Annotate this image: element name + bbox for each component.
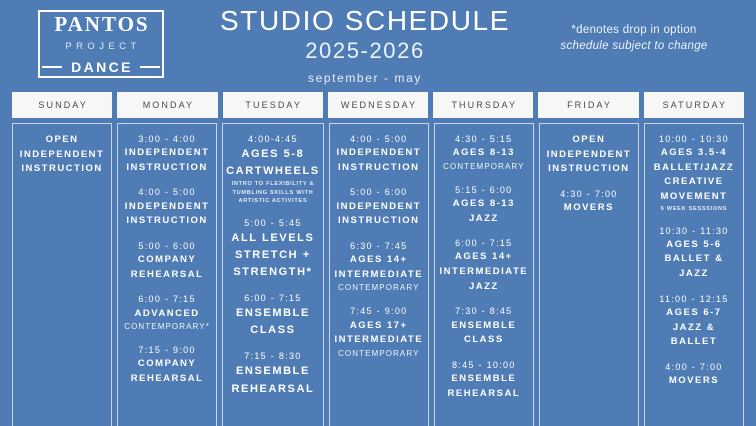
class-time: 7:15 - 8:30 <box>226 350 320 363</box>
day-header-label: SATURDAY <box>661 100 727 110</box>
class-name: INSTRUCTION <box>333 214 425 229</box>
class-name: BALLET <box>648 335 740 350</box>
title-block: STUDIO SCHEDULE 2025-2026 september - ma… <box>200 6 530 85</box>
class-name: AGES 17+ <box>333 319 425 334</box>
class-time: 7:15 - 9:00 <box>121 344 213 357</box>
logo-dance-row: DANCE <box>40 60 162 74</box>
class-name: INSTRUCTION <box>121 161 213 176</box>
class-name: JAZZ <box>438 212 530 227</box>
day-header-thursday[interactable]: THURSDAY <box>433 92 533 118</box>
class-name: CREATIVE <box>648 175 740 190</box>
class-time: 10:00 - 10:30 <box>648 133 740 146</box>
day-header-friday[interactable]: FRIDAY <box>538 92 638 118</box>
day-body-row: OPENINDEPENDENTINSTRUCTION3:00 - 4:00IND… <box>12 123 744 426</box>
logo-rule-right-icon <box>140 66 160 68</box>
day-header-label: WEDNESDAY <box>339 100 417 110</box>
schedule-poster: PANTOS PROJECT DANCE STUDIO SCHEDULE 202… <box>0 0 756 426</box>
class-name: COMPANY <box>121 253 213 268</box>
class-name: REHEARSAL <box>226 381 320 398</box>
class-time: 11:00 - 12:15 <box>648 293 740 306</box>
class-time: 10:30 - 11:30 <box>648 225 740 238</box>
class-entry[interactable]: 8:45 - 10:00ENSEMBLEREHEARSAL <box>438 359 530 401</box>
class-time: 4:00 - 5:00 <box>121 186 213 199</box>
day-header-row: SUNDAYMONDAYTUESDAYWEDNESDAYTHURSDAYFRID… <box>12 92 744 118</box>
class-name: INDEPENDENT <box>121 146 213 161</box>
class-name: MOVERS <box>648 374 740 389</box>
class-name: INSTRUCTION <box>16 162 108 177</box>
class-entry[interactable]: 10:30 - 11:30AGES 5-6BALLET &JAZZ <box>648 225 740 282</box>
class-name: JAZZ <box>648 267 740 282</box>
class-time: 4:00-4:45 <box>226 133 320 146</box>
class-name: ENSEMBLE <box>438 372 530 387</box>
class-name: INTERMEDIATE <box>333 333 425 348</box>
class-entry[interactable]: 4:00 - 5:00INDEPENDENTINSTRUCTION <box>333 133 425 175</box>
class-time: 4:00 - 7:00 <box>648 361 740 374</box>
day-header-tuesday[interactable]: TUESDAY <box>223 92 323 118</box>
class-name: ALL LEVELS <box>226 230 320 247</box>
day-column-saturday: 10:00 - 10:30AGES 3.5-4BALLET/JAZZCREATI… <box>644 123 744 426</box>
class-entry[interactable]: 7:15 - 8:30ENSEMBLEREHEARSAL <box>226 350 320 397</box>
class-name: INDEPENDENT <box>543 148 635 163</box>
class-name: ENSEMBLE <box>438 319 530 334</box>
day-header-label: THURSDAY <box>449 100 517 110</box>
class-note: INTRO TO FLEXIBILITY & <box>226 180 320 189</box>
class-time: 6:00 - 7:15 <box>121 293 213 306</box>
logo-line-dance: DANCE <box>62 60 140 74</box>
class-time: 6:00 - 7:15 <box>438 237 530 250</box>
class-time: 4:30 - 7:00 <box>543 188 635 201</box>
schedule-grid: SUNDAYMONDAYTUESDAYWEDNESDAYTHURSDAYFRID… <box>12 92 744 426</box>
class-name: INDEPENDENT <box>333 200 425 215</box>
day-header-label: FRIDAY <box>565 100 612 110</box>
class-entry[interactable]: 6:00 - 7:15AGES 14+INTERMEDIATEJAZZ <box>438 237 530 294</box>
class-name: AGES 6-7 <box>648 306 740 321</box>
disclaimer-note: *denotes drop in option schedule subject… <box>526 22 742 54</box>
class-name: BALLET/JAZZ <box>648 161 740 176</box>
class-entry[interactable]: 4:00-4:45AGES 5-8CARTWHEELSINTRO TO FLEX… <box>226 133 320 206</box>
class-name: STRETCH + <box>226 247 320 264</box>
class-name: INDEPENDENT <box>16 148 108 163</box>
day-column-wednesday: 4:00 - 5:00INDEPENDENTINSTRUCTION5:00 - … <box>329 123 429 426</box>
class-name: ADVANCED <box>121 307 213 322</box>
day-header-sunday[interactable]: SUNDAY <box>12 92 112 118</box>
class-time: 6:30 - 7:45 <box>333 240 425 253</box>
class-entry[interactable]: 6:00 - 7:15ENSEMBLECLASS <box>226 292 320 339</box>
class-entry[interactable]: 7:30 - 8:45ENSEMBLECLASS <box>438 305 530 347</box>
class-entry[interactable]: 7:45 - 9:00AGES 17+INTERMEDIATECONTEMPOR… <box>333 305 425 359</box>
class-entry[interactable]: 3:00 - 4:00INDEPENDENTINSTRUCTION <box>121 133 213 175</box>
class-note: TUMBLING SKILLS WITH <box>226 189 320 198</box>
class-time: 5:00 - 5:45 <box>226 217 320 230</box>
class-name: AGES 14+ <box>438 250 530 265</box>
day-header-monday[interactable]: MONDAY <box>117 92 217 118</box>
class-time: 7:45 - 9:00 <box>333 305 425 318</box>
class-name: AGES 14+ <box>333 253 425 268</box>
studio-logo: PANTOS PROJECT DANCE <box>38 10 164 78</box>
class-name: INTERMEDIATE <box>438 265 530 280</box>
class-time: 8:45 - 10:00 <box>438 359 530 372</box>
class-name: CONTEMPORARY <box>438 161 530 173</box>
class-name: INSTRUCTION <box>333 161 425 176</box>
class-entry[interactable]: OPENINDEPENDENTINSTRUCTION <box>16 133 108 177</box>
class-time: 5:15 - 6:00 <box>438 184 530 197</box>
class-note: ARTISTIC ACTIVITES <box>226 197 320 206</box>
class-name: CONTEMPORARY* <box>121 321 213 333</box>
class-time: 3:00 - 4:00 <box>121 133 213 146</box>
class-entry[interactable]: 4:30 - 5:15AGES 8-13CONTEMPORARY <box>438 133 530 173</box>
class-name: MOVEMENT <box>648 190 740 205</box>
note-drop-in: *denotes drop in option <box>526 22 742 38</box>
class-name: BALLET & <box>648 252 740 267</box>
class-name: INDEPENDENT <box>333 146 425 161</box>
class-name: MOVERS <box>543 201 635 216</box>
class-entry[interactable]: 5:00 - 6:00INDEPENDENTINSTRUCTION <box>333 186 425 228</box>
day-column-thursday: 4:30 - 5:15AGES 8-13CONTEMPORARY5:15 - 6… <box>434 123 534 426</box>
class-name: ENSEMBLE <box>226 363 320 380</box>
class-name: INSTRUCTION <box>543 162 635 177</box>
class-name: AGES 8-13 <box>438 146 530 161</box>
day-column-tuesday: 4:00-4:45AGES 5-8CARTWHEELSINTRO TO FLEX… <box>222 123 324 426</box>
class-entry[interactable]: OPENINDEPENDENTINSTRUCTION <box>543 133 635 177</box>
class-name: ENSEMBLE <box>226 305 320 322</box>
day-header-label: MONDAY <box>141 100 194 110</box>
page-title: STUDIO SCHEDULE <box>200 6 530 35</box>
class-name: STRENGTH* <box>226 264 320 281</box>
schedule-year: 2025-2026 <box>200 37 530 65</box>
class-entry[interactable]: 4:00 - 5:00INDEPENDENTINSTRUCTION <box>121 186 213 228</box>
class-name: INDEPENDENT <box>121 200 213 215</box>
class-entry[interactable]: 5:00 - 6:00COMPANYREHEARSAL <box>121 240 213 282</box>
class-name: CLASS <box>438 333 530 348</box>
schedule-months: september - may <box>200 71 530 85</box>
class-entry[interactable]: 10:00 - 10:30AGES 3.5-4BALLET/JAZZCREATI… <box>648 133 740 214</box>
class-name: AGES 8-13 <box>438 197 530 212</box>
class-name: AGES 3.5-4 <box>648 146 740 161</box>
class-entry[interactable]: 5:00 - 5:45ALL LEVELSSTRETCH +STRENGTH* <box>226 217 320 281</box>
class-name: COMPANY <box>121 357 213 372</box>
logo-line-pantos: PANTOS <box>52 14 149 35</box>
class-name: OPEN <box>16 133 108 148</box>
class-entry[interactable]: 6:30 - 7:45AGES 14+INTERMEDIATECONTEMPOR… <box>333 240 425 294</box>
class-time: 7:30 - 8:45 <box>438 305 530 318</box>
day-header-label: TUESDAY <box>243 100 302 110</box>
class-entry[interactable]: 11:00 - 12:15AGES 6-7JAZZ &BALLET <box>648 293 740 350</box>
class-name: REHEARSAL <box>438 387 530 402</box>
class-name: CONTEMPORARY <box>333 348 425 360</box>
class-name: JAZZ <box>438 280 530 295</box>
day-column-monday: 3:00 - 4:00INDEPENDENTINSTRUCTION4:00 - … <box>117 123 217 426</box>
class-name: CONTEMPORARY <box>333 282 425 294</box>
class-name: AGES 5-8 <box>226 146 320 163</box>
class-name: INTERMEDIATE <box>333 268 425 283</box>
class-entry[interactable]: 4:00 - 7:00MOVERS <box>648 361 740 389</box>
class-name: INSTRUCTION <box>121 214 213 229</box>
day-header-saturday[interactable]: SATURDAY <box>644 92 744 118</box>
class-name: AGES 5-6 <box>648 238 740 253</box>
class-time: 4:30 - 5:15 <box>438 133 530 146</box>
logo-rule-left-icon <box>42 66 62 68</box>
class-entry[interactable]: 7:15 - 9:00COMPANYREHEARSAL <box>121 344 213 386</box>
class-time: 4:00 - 5:00 <box>333 133 425 146</box>
class-time: 5:00 - 6:00 <box>333 186 425 199</box>
class-note: 6 WEEK SESSSIONS <box>648 205 740 214</box>
class-entry[interactable]: 5:15 - 6:00AGES 8-13JAZZ <box>438 184 530 226</box>
note-subject-to-change: schedule subject to change <box>526 38 742 54</box>
day-column-sunday: OPENINDEPENDENTINSTRUCTION <box>12 123 112 426</box>
class-name: REHEARSAL <box>121 268 213 283</box>
class-name: CARTWHEELS <box>226 163 320 180</box>
class-time: 6:00 - 7:15 <box>226 292 320 305</box>
day-column-friday: OPENINDEPENDENTINSTRUCTION4:30 - 7:00MOV… <box>539 123 639 426</box>
class-name: CLASS <box>226 322 320 339</box>
class-name: JAZZ & <box>648 321 740 336</box>
class-entry[interactable]: 6:00 - 7:15ADVANCEDCONTEMPORARY* <box>121 293 213 333</box>
day-header-label: SUNDAY <box>36 100 87 110</box>
class-entry[interactable]: 4:30 - 7:00MOVERS <box>543 188 635 216</box>
class-time: 5:00 - 6:00 <box>121 240 213 253</box>
class-name: OPEN <box>543 133 635 148</box>
logo-line-project: PROJECT <box>61 42 140 52</box>
poster-header: PANTOS PROJECT DANCE STUDIO SCHEDULE 202… <box>0 0 756 90</box>
class-name: REHEARSAL <box>121 372 213 387</box>
day-header-wednesday[interactable]: WEDNESDAY <box>328 92 428 118</box>
